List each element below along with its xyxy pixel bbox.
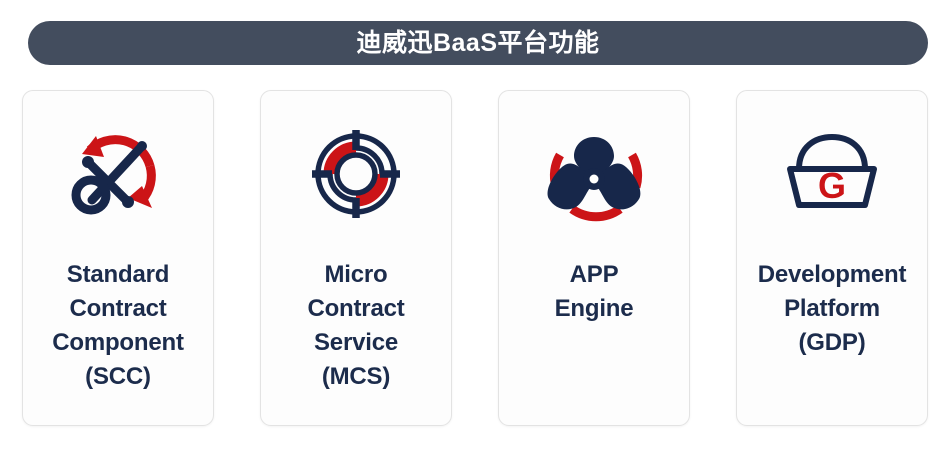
feature-card-app-engine[interactable]: APP Engine — [498, 90, 690, 426]
cap-letter-g: G — [818, 165, 846, 206]
baas-platform-features-diagram: 迪威迅BaaS平台功能 — [0, 0, 950, 451]
feature-card-label: Micro Contract Service (MCS) — [268, 258, 444, 394]
sailor-cap-g-icon: G — [777, 123, 887, 225]
page-title: 迪威迅BaaS平台功能 — [356, 31, 599, 56]
feature-card-row: Standard Contract Component (SCC) — [22, 90, 928, 426]
lifebuoy-icon — [301, 123, 411, 225]
page-header-banner: 迪威迅BaaS平台功能 — [28, 21, 928, 65]
feature-card-scc[interactable]: Standard Contract Component (SCC) — [22, 90, 214, 426]
anchor-with-arc-arrow-icon — [63, 123, 173, 225]
feature-card-gdp[interactable]: G Development Platform (GDP) — [736, 90, 928, 426]
feature-card-label: Standard Contract Component (SCC) — [30, 258, 206, 394]
feature-card-label: APP Engine — [506, 258, 682, 326]
feature-card-mcs[interactable]: Micro Contract Service (MCS) — [260, 90, 452, 426]
propeller-icon — [539, 123, 649, 225]
feature-card-label: Development Platform (GDP) — [744, 258, 920, 360]
